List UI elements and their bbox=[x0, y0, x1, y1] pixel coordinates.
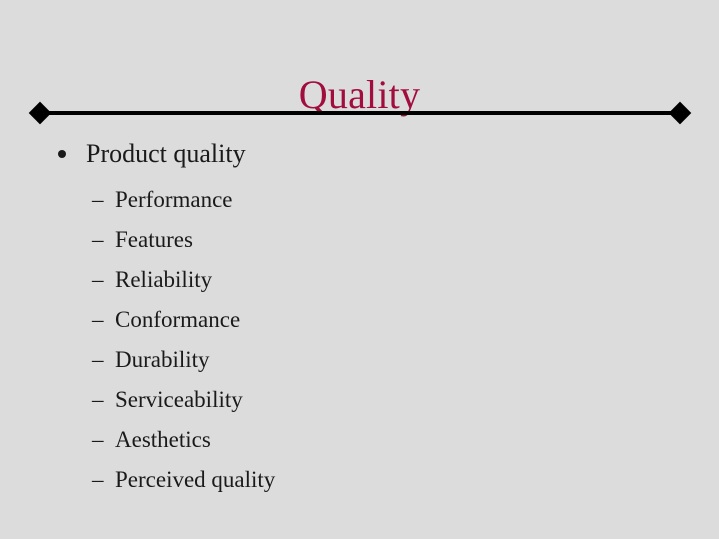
dash-icon: – bbox=[92, 260, 104, 300]
bullet-level2-item-serviceability: – Serviceability bbox=[0, 380, 719, 420]
dash-icon: – bbox=[92, 180, 104, 220]
bullet-level2-item-conformance: – Conformance bbox=[0, 300, 719, 340]
dash-icon: – bbox=[92, 460, 104, 500]
bullet-level2-label: Features bbox=[115, 227, 193, 252]
bullet-level2-item-reliability: – Reliability bbox=[0, 260, 719, 300]
bullet-level2-label: Perceived quality bbox=[115, 467, 275, 492]
bullet-dot-icon bbox=[58, 150, 66, 158]
diamond-icon-right bbox=[669, 102, 692, 125]
bullet-level1-item: Product quality bbox=[0, 132, 719, 176]
bullet-level2-label: Performance bbox=[115, 187, 233, 212]
dash-icon: – bbox=[92, 340, 104, 380]
bullet-level2-item-performance: – Performance bbox=[0, 180, 719, 220]
dash-icon: – bbox=[92, 420, 104, 460]
bullet-level2-label: Durability bbox=[115, 347, 210, 372]
bullet-level1-label: Product quality bbox=[86, 139, 246, 168]
dash-icon: – bbox=[92, 220, 104, 260]
bullet-level2-item-aesthetics: – Aesthetics bbox=[0, 420, 719, 460]
bullet-level2-label: Reliability bbox=[115, 267, 212, 292]
presentation-slide: Quality Product quality – Performance – … bbox=[0, 0, 719, 539]
bullet-level2-label: Conformance bbox=[115, 307, 240, 332]
bullet-level2-label: Serviceability bbox=[115, 387, 243, 412]
bullet-level2-label: Aesthetics bbox=[115, 427, 211, 452]
dash-icon: – bbox=[92, 380, 104, 420]
bullet-level2-item-durability: – Durability bbox=[0, 340, 719, 380]
bullet-level2-item-perceived-quality: – Perceived quality bbox=[0, 460, 719, 500]
divider-line bbox=[40, 111, 680, 115]
dash-icon: – bbox=[92, 300, 104, 340]
slide-body: Product quality – Performance – Features… bbox=[0, 132, 719, 500]
title-divider bbox=[32, 104, 688, 122]
bullet-level2-list: – Performance – Features – Reliability –… bbox=[0, 180, 719, 500]
bullet-level2-item-features: – Features bbox=[0, 220, 719, 260]
